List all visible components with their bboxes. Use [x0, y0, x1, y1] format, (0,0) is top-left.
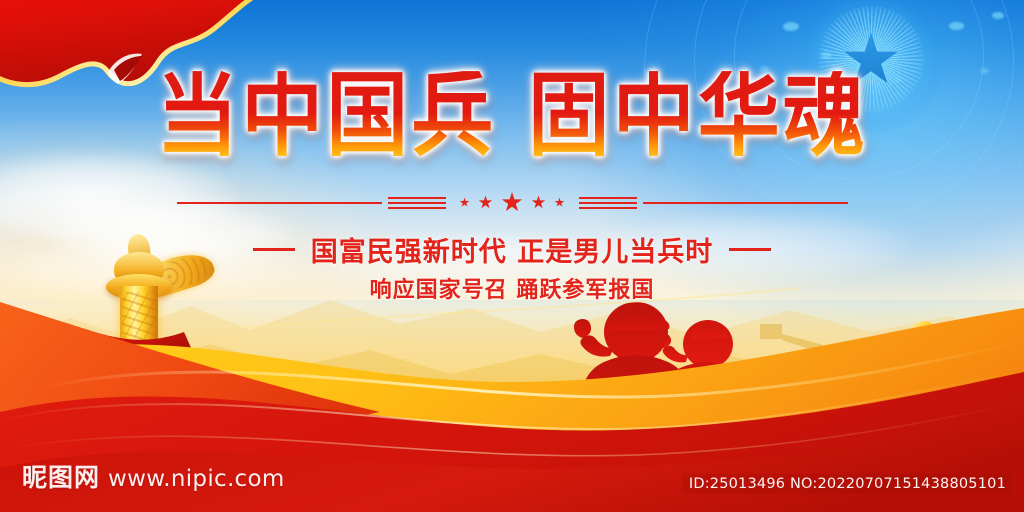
star-icon-small [460, 198, 470, 208]
poster-canvas: 当中国兵 固中华魂 国富民强新时代 正是男儿当兵时 响应国家号召 踊跃参军报国 … [0, 0, 1024, 512]
image-id-watermark: ID:25013496 NO:20220707151438805101 [683, 474, 1012, 494]
divider-line-left [177, 202, 382, 204]
bokeh-dot [949, 22, 964, 30]
divider-line-right [643, 202, 848, 204]
page-title: 当中国兵 固中华魂 [156, 71, 868, 163]
star-divider [0, 192, 1024, 213]
bokeh-dot [980, 68, 989, 74]
divider-bars-right [579, 197, 637, 209]
star-icon-medium [532, 196, 546, 210]
poster-title-area: 当中国兵 固中华魂 [0, 76, 1024, 158]
site-name-cn: 昵图网 [22, 458, 100, 494]
subtitle-rule-left [253, 248, 295, 251]
star-icon-large [502, 192, 523, 213]
star-icon-medium [479, 196, 493, 210]
subtitle-rule-right [729, 248, 771, 251]
bokeh-dot [992, 12, 1004, 19]
divider-stars [460, 192, 565, 213]
star-icon-small [555, 198, 565, 208]
subtitle-primary: 国富民强新时代 正是男儿当兵时 [311, 230, 713, 269]
site-watermark: 昵图网 www.nipic.com [22, 458, 285, 494]
subtitle-secondary: 响应国家号召 踊跃参军报国 [0, 272, 1024, 304]
subtitle-primary-row: 国富民强新时代 正是男儿当兵时 [0, 230, 1024, 269]
site-url: www.nipic.com [108, 466, 285, 492]
divider-bars-left [388, 197, 446, 209]
